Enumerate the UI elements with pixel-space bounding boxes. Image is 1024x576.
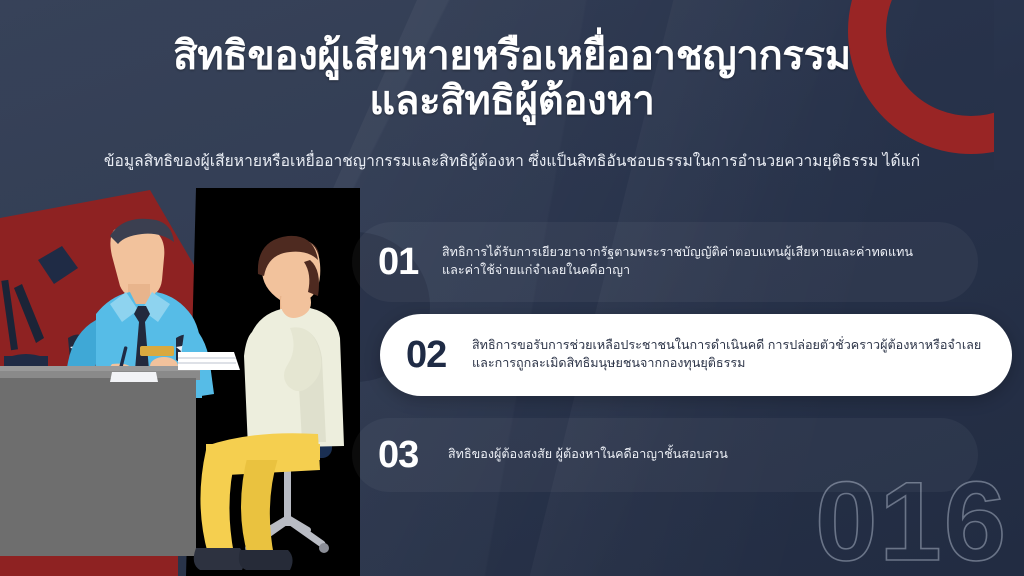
items-list: 01 สิทธิการได้รับการเยียวยาจากรัฐตามพระร… <box>0 0 1024 576</box>
list-item-02[interactable]: 02 สิทธิการขอรับการช่วยเหลือประชาชนในการ… <box>380 314 1012 396</box>
list-item-01[interactable]: 01 สิทธิการได้รับการเยียวยาจากรัฐตามพระร… <box>352 222 978 302</box>
item-text-01: สิทธิการได้รับการเยียวยาจากรัฐตามพระราชบ… <box>442 244 956 280</box>
item-text-02-line-2: และการถูกละเมิดสิทธิมนุษยชนจากกองทุนยุติ… <box>472 355 988 373</box>
item-text-01-line-2: และค่าใช้จ่ายแก่จำเลยในคดีอาญา <box>442 262 956 280</box>
item-number-03: 03 <box>378 434 448 477</box>
item-text-03: สิทธิของผู้ต้องสงสัย ผู้ต้องหาในคดีอาญาช… <box>448 446 956 464</box>
slide-canvas: สิทธิของผู้เสียหายหรือเหยื่ออาชญากรรม แล… <box>0 0 1024 576</box>
item-number-02: 02 <box>406 334 472 377</box>
item-text-01-line-1: สิทธิการได้รับการเยียวยาจากรัฐตามพระราชบ… <box>442 244 956 262</box>
item-text-03-line-1: สิทธิของผู้ต้องสงสัย ผู้ต้องหาในคดีอาญาช… <box>448 446 956 464</box>
item-number-01: 01 <box>378 241 442 284</box>
list-item-03[interactable]: 03 สิทธิของผู้ต้องสงสัย ผู้ต้องหาในคดีอา… <box>352 418 978 492</box>
item-text-02: สิทธิการขอรับการช่วยเหลือประชาชนในการดำเ… <box>472 337 988 373</box>
item-text-02-line-1: สิทธิการขอรับการช่วยเหลือประชาชนในการดำเ… <box>472 337 988 355</box>
